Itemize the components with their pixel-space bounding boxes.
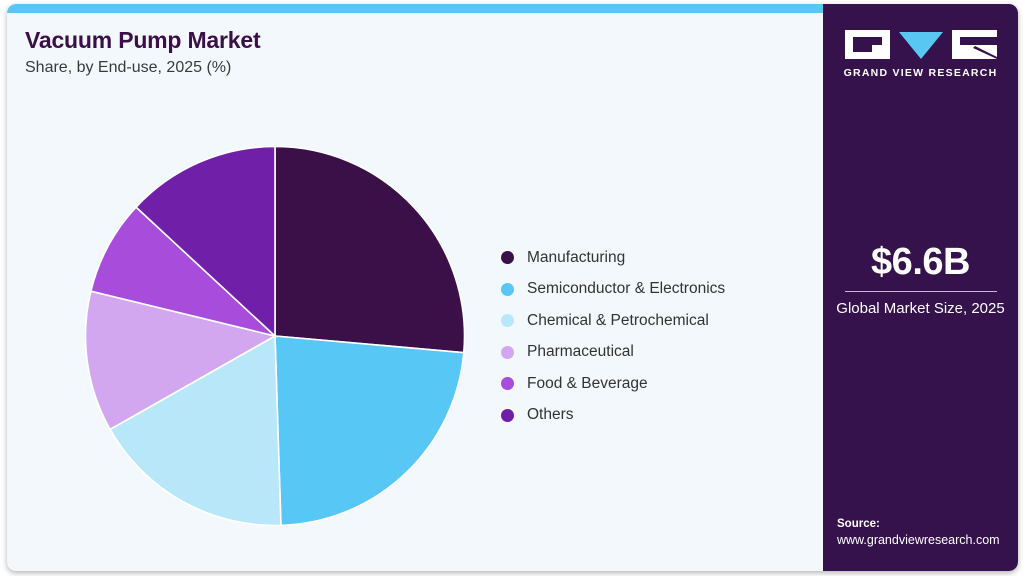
infographic-card: Vacuum Pump Market Share, by End-use, 20… (7, 4, 1018, 571)
source-url[interactable]: www.grandviewresearch.com (837, 532, 1017, 549)
logo-block: GRAND VIEW RESEARCH (823, 30, 1018, 79)
brand-sidebar: GRAND VIEW RESEARCH $6.6B Global Market … (823, 4, 1018, 571)
page-subtitle: Share, by End-use, 2025 (%) (25, 57, 645, 79)
legend-item[interactable]: Manufacturing (501, 242, 821, 274)
stat-divider (845, 291, 997, 292)
legend-color-swatch-icon (501, 409, 514, 422)
legend-label: Others (527, 406, 574, 424)
source-label: Source: (837, 516, 1017, 532)
market-size-stat: $6.6B Global Market Size, 2025 (823, 240, 1018, 319)
legend-label: Manufacturing (527, 249, 625, 267)
legend-item[interactable]: Chemical & Petrochemical (501, 305, 821, 337)
legend-item[interactable]: Food & Beverage (501, 368, 821, 400)
page-title: Vacuum Pump Market (25, 26, 645, 54)
legend-label: Pharmaceutical (527, 343, 634, 361)
legend-label: Food & Beverage (527, 375, 648, 393)
legend-label: Chemical & Petrochemical (527, 312, 709, 330)
legend-item[interactable]: Pharmaceutical (501, 337, 821, 369)
source-block: Source: www.grandviewresearch.com (837, 516, 1017, 549)
legend-item[interactable]: Semiconductor & Electronics (501, 274, 821, 306)
legend-color-swatch-icon (501, 377, 514, 390)
title-block: Vacuum Pump Market Share, by End-use, 20… (25, 26, 645, 79)
chart-legend: ManufacturingSemiconductor & Electronics… (501, 242, 821, 431)
stat-value: $6.6B (835, 240, 1006, 284)
legend-color-swatch-icon (501, 283, 514, 296)
legend-color-swatch-icon (501, 314, 514, 327)
stat-caption: Global Market Size, 2025 (835, 298, 1006, 319)
legend-color-swatch-icon (501, 251, 514, 264)
pie-chart (85, 146, 465, 526)
logo-wordmark: GRAND VIEW RESEARCH (823, 67, 1018, 79)
legend-label: Semiconductor & Electronics (527, 280, 725, 298)
legend-color-swatch-icon (501, 346, 514, 359)
pie-slice (275, 147, 465, 353)
pie-slice (275, 336, 464, 525)
grand-view-research-logo-icon (845, 30, 997, 59)
legend-item[interactable]: Others (501, 400, 821, 432)
pie-chart-svg (85, 146, 465, 526)
